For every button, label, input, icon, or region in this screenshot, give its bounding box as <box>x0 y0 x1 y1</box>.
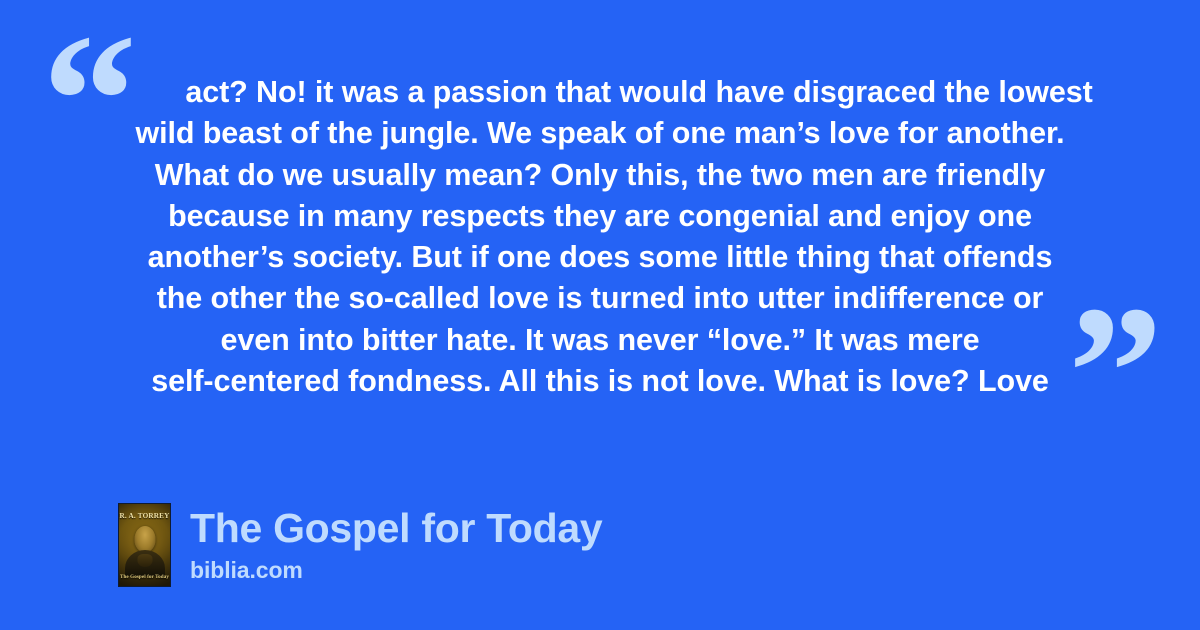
book-title: The Gospel for Today <box>190 505 602 552</box>
quote-line: another’s society. But if one does some … <box>60 237 1140 278</box>
site-name[interactable]: biblia.com <box>190 556 602 584</box>
quote-line: even into bitter hate. It was never “lov… <box>60 320 1140 361</box>
book-cover-title: The Gospel for Today <box>119 574 170 580</box>
portrait-beard <box>137 554 152 567</box>
footer-text-block: The Gospel for Today biblia.com <box>190 503 602 584</box>
quote-card: “ ” act? No! it was a passion that would… <box>0 0 1200 630</box>
book-cover-author: R. A. TORREY <box>119 512 170 520</box>
quote-line: because in many respects they are congen… <box>60 196 1140 237</box>
attribution-footer: R. A. TORREY The Gospel for Today The Go… <box>118 503 602 587</box>
quote-line: What do we usually mean? Only this, the … <box>60 155 1140 196</box>
quote-line: self-centered fondness. All this is not … <box>60 361 1140 402</box>
quote-line: the other the so-called love is turned i… <box>60 278 1140 319</box>
quote-line: act? No! it was a passion that would hav… <box>60 72 1140 113</box>
quote-line: wild beast of the jungle. We speak of on… <box>60 113 1140 154</box>
author-portrait <box>125 524 165 576</box>
quote-text: act? No! it was a passion that would hav… <box>60 72 1140 402</box>
book-cover-thumbnail[interactable]: R. A. TORREY The Gospel for Today <box>118 503 171 587</box>
